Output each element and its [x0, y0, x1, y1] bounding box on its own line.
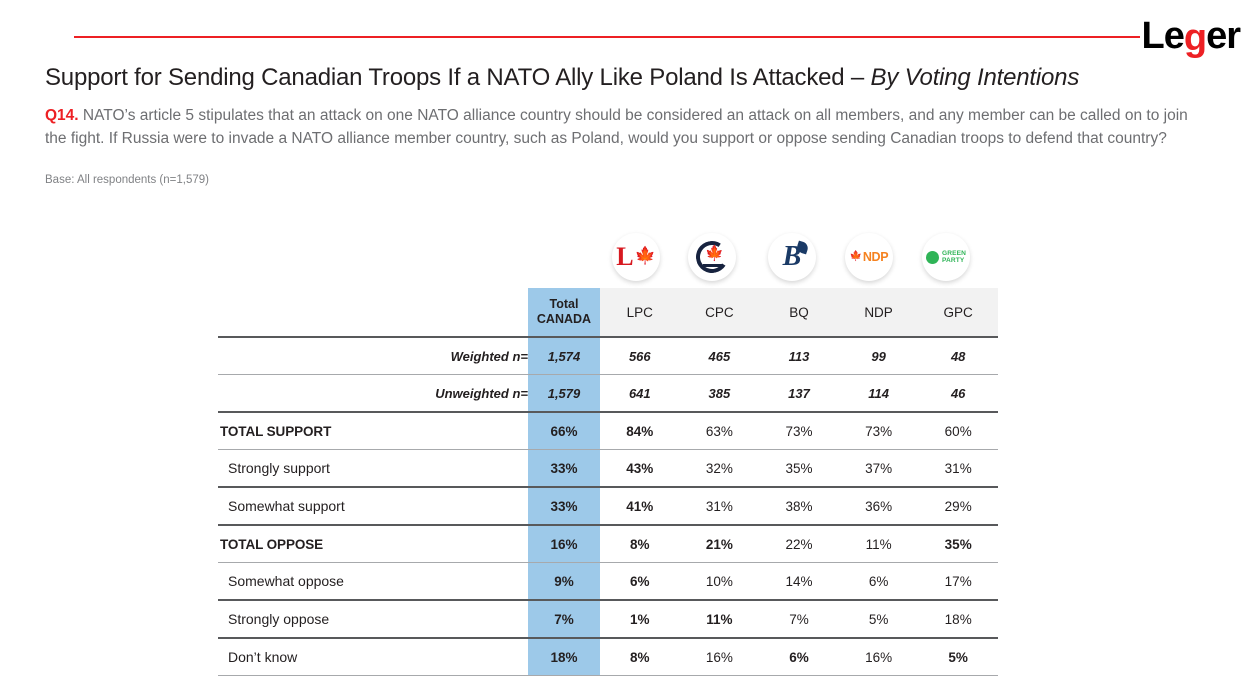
table-cell: 16% — [839, 638, 919, 676]
table-cell: 14% — [759, 563, 839, 601]
table-cell: 29% — [918, 487, 998, 525]
maple-leaf-icon: 🍁 — [635, 247, 656, 264]
results-table: Total CANADA LPC CPC BQ NDP GPC Weighted… — [218, 288, 998, 676]
lpc-letter-icon: L — [616, 244, 633, 270]
header-cpc: CPC — [680, 288, 760, 337]
table-row: TOTAL SUPPORT66%84%63%73%73%60% — [218, 412, 998, 450]
row-label: Don’t know — [218, 638, 528, 676]
table-cell: 6% — [759, 638, 839, 676]
row-label: TOTAL OPPOSE — [218, 525, 528, 563]
table-cell: 10% — [680, 563, 760, 601]
table-cell: 7% — [528, 600, 600, 638]
table-cell: 37% — [839, 450, 919, 488]
row-label: TOTAL SUPPORT — [218, 412, 528, 450]
table-cell: 63% — [680, 412, 760, 450]
ndp-mark: 🍁NDP — [850, 250, 889, 264]
header-lpc: LPC — [600, 288, 680, 337]
table-cell: 60% — [918, 412, 998, 450]
table-body: Weighted n=1,5745664651139948Unweighted … — [218, 337, 998, 676]
table-cell: 1,574 — [528, 337, 600, 375]
table-cell: 137 — [759, 375, 839, 413]
table-cell: 113 — [759, 337, 839, 375]
header-rule — [74, 36, 1140, 38]
header-total-line2: CANADA — [537, 312, 591, 326]
table-cell: 1% — [600, 600, 680, 638]
table-cell: 66% — [528, 412, 600, 450]
logo-text-part2: er — [1206, 17, 1240, 55]
table-cell: 465 — [680, 337, 760, 375]
table-cell: 35% — [918, 525, 998, 563]
table-row: Strongly oppose7%1%11%7%5%18% — [218, 600, 998, 638]
table-cell: 8% — [600, 525, 680, 563]
row-label: Somewhat oppose — [218, 563, 528, 601]
header-total-line1: Total — [550, 297, 579, 311]
table-cell: 18% — [918, 600, 998, 638]
table-cell: 641 — [600, 375, 680, 413]
page-title-subtitle: By Voting Intentions — [871, 64, 1080, 91]
table-cell: 32% — [680, 450, 760, 488]
green-party-logo: GREENPARTY — [922, 233, 970, 281]
table-row: Somewhat oppose9%6%10%14%6%17% — [218, 563, 998, 601]
table-cell: 16% — [680, 638, 760, 676]
lpc-mark: L 🍁 — [616, 244, 656, 270]
question-text: Q14. NATO’s article 5 stipulates that an… — [45, 105, 1205, 150]
page-title: Support for Sending Canadian Troops If a… — [45, 64, 1225, 92]
table-cell: 566 — [600, 337, 680, 375]
table-cell: 33% — [528, 487, 600, 525]
table-cell: 5% — [839, 600, 919, 638]
table-row: Strongly support33%43%32%35%37%31% — [218, 450, 998, 488]
table-cell: 38% — [759, 487, 839, 525]
table-cell: 48 — [918, 337, 998, 375]
bq-letter-icon: B — [783, 243, 802, 271]
table-row: Unweighted n=1,57964138513711446 — [218, 375, 998, 413]
bloc-quebecois-logo: B — [768, 233, 816, 281]
table-cell: 73% — [839, 412, 919, 450]
table-cell: 46 — [918, 375, 998, 413]
table-cell: 73% — [759, 412, 839, 450]
row-label: Weighted n= — [218, 337, 528, 375]
header-blank-cell — [218, 288, 528, 337]
table-cell: 6% — [600, 563, 680, 601]
table-cell: 84% — [600, 412, 680, 450]
table-cell: 1,579 — [528, 375, 600, 413]
table-cell: 43% — [600, 450, 680, 488]
base-note: Base: All respondents (n=1,579) — [45, 174, 209, 186]
maple-leaf-icon: 🍁 — [850, 252, 862, 262]
table-cell: 36% — [839, 487, 919, 525]
question-number: Q14. — [45, 107, 79, 124]
cpc-bar-icon — [703, 264, 722, 267]
table-row: TOTAL OPPOSE16%8%21%22%11%35% — [218, 525, 998, 563]
cpc-mark: 🍁 — [696, 241, 728, 273]
table-cell: 18% — [528, 638, 600, 676]
conservative-party-logo: 🍁 — [688, 233, 736, 281]
ndp-logo: 🍁NDP — [845, 233, 893, 281]
question-body: NATO’s article 5 stipulates that an atta… — [45, 107, 1188, 147]
table-row: Don’t know18%8%16%6%16%5% — [218, 638, 998, 676]
table-cell: 99 — [839, 337, 919, 375]
header-total-canada: Total CANADA — [528, 288, 600, 337]
table-cell: 6% — [839, 563, 919, 601]
table-cell: 385 — [680, 375, 760, 413]
table-row: Weighted n=1,5745664651139948 — [218, 337, 998, 375]
table-cell: 21% — [680, 525, 760, 563]
table-cell: 31% — [918, 450, 998, 488]
table-cell: 11% — [839, 525, 919, 563]
maple-leaf-icon: 🍁 — [705, 246, 724, 261]
table-cell: 7% — [759, 600, 839, 638]
row-label: Strongly support — [218, 450, 528, 488]
header-ndp: NDP — [839, 288, 919, 337]
table-cell: 31% — [680, 487, 760, 525]
row-label: Somewhat support — [218, 487, 528, 525]
table-cell: 9% — [528, 563, 600, 601]
results-table-container: Total CANADA LPC CPC BQ NDP GPC Weighted… — [218, 288, 998, 676]
row-label: Strongly oppose — [218, 600, 528, 638]
header-bq: BQ — [759, 288, 839, 337]
page-title-main: Support for Sending Canadian Troops If a… — [45, 64, 871, 91]
table-cell: 41% — [600, 487, 680, 525]
party-logo-row: L 🍁 🍁 B 🍁NDP GREENPARTY — [600, 231, 1000, 289]
green-dot-icon — [926, 251, 939, 264]
bq-leaf-icon — [795, 241, 809, 255]
table-row: Somewhat support33%41%31%38%36%29% — [218, 487, 998, 525]
table-cell: 5% — [918, 638, 998, 676]
logo-text-part1: Le — [1142, 17, 1184, 55]
table-cell: 11% — [680, 600, 760, 638]
table-cell: 8% — [600, 638, 680, 676]
table-cell: 16% — [528, 525, 600, 563]
table-cell: 114 — [839, 375, 919, 413]
table-cell: 22% — [759, 525, 839, 563]
leger-logo: Leger — [1142, 14, 1241, 58]
row-label: Unweighted n= — [218, 375, 528, 413]
table-cell: 17% — [918, 563, 998, 601]
header-gpc: GPC — [918, 288, 998, 337]
gpc-mark: GREENPARTY — [926, 250, 966, 264]
table-cell: 35% — [759, 450, 839, 488]
liberal-party-logo: L 🍁 — [612, 233, 660, 281]
table-cell: 33% — [528, 450, 600, 488]
logo-text-accent: g — [1184, 19, 1206, 57]
table-header-row: Total CANADA LPC CPC BQ NDP GPC — [218, 288, 998, 337]
gpc-label: GREENPARTY — [942, 250, 966, 264]
